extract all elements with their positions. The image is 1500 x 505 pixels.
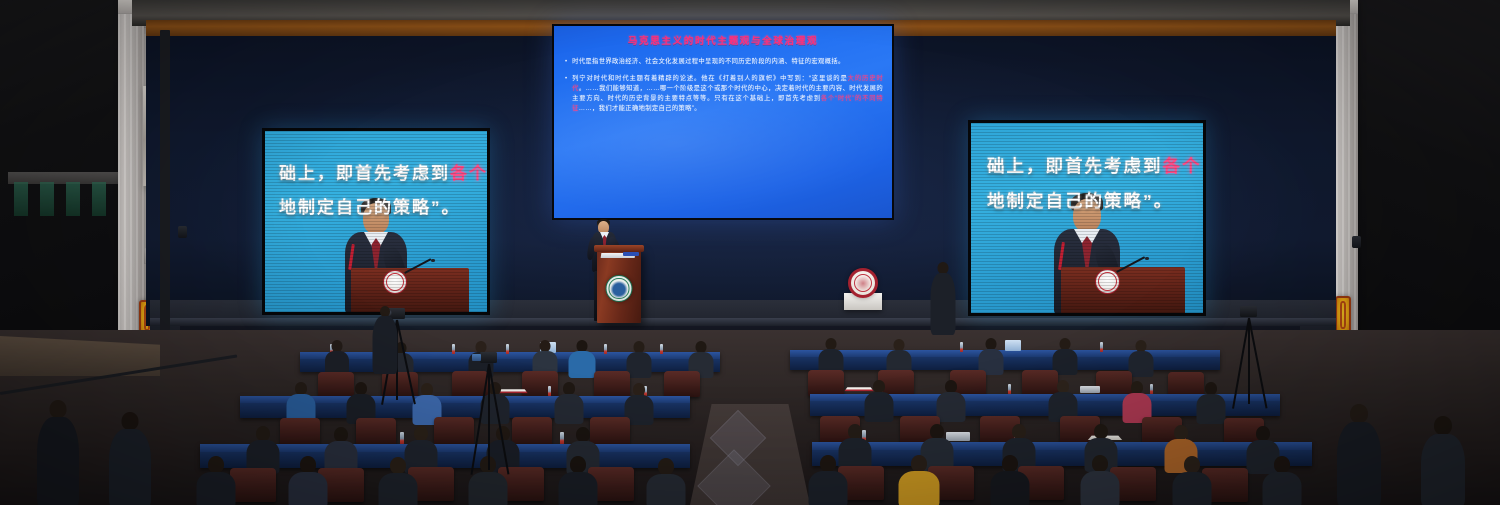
spotlight-1 — [178, 226, 187, 238]
person-head — [1094, 424, 1108, 439]
person-head — [1002, 455, 1018, 472]
person-head — [334, 427, 348, 442]
water-bottle — [660, 344, 663, 354]
camera-tripod-right — [1232, 300, 1272, 412]
lighting-truss — [160, 30, 170, 330]
stage-edge — [150, 318, 1336, 326]
led-left-line-2: 地制定自己的策略”。 — [279, 193, 461, 218]
person-body — [1173, 472, 1212, 505]
person-body — [1337, 422, 1381, 505]
person-body — [937, 392, 966, 422]
person-body — [559, 472, 598, 505]
lecture-hall-scene: 马克思主义的时代主题观与全球治理观 • 时代是指世界政治经济、社会文化发展过程中… — [0, 0, 1500, 505]
audience-person — [288, 456, 328, 505]
water-bottle — [452, 344, 455, 354]
audience-chair — [808, 370, 844, 396]
person-body — [109, 429, 151, 505]
slide-title: 马克思主义的时代主题观与全球治理观 — [563, 36, 883, 48]
audience-person — [818, 338, 844, 374]
led-microphone-head — [1145, 257, 1149, 261]
audience-chair — [280, 418, 320, 446]
main-projection-screen: 马克思主义的时代主题观与全球治理观 • 时代是指世界政治经济、社会文化发展过程中… — [552, 24, 894, 220]
audience-person — [936, 380, 966, 420]
person-head — [1256, 426, 1270, 441]
audience-person — [568, 340, 596, 377]
person-body — [555, 394, 584, 424]
tripod-leg — [1248, 318, 1250, 404]
video-camera — [1240, 306, 1257, 317]
person-head — [1350, 404, 1368, 423]
gallery-window-2 — [40, 182, 54, 216]
person-head — [930, 424, 944, 439]
audience-person — [36, 400, 80, 505]
video-camera — [480, 352, 497, 363]
slide-bullet-2: • 列宁对时代和时代主题有着精辟的论述。他在《打着别人的旗帜》中写到：“这里谈的… — [565, 74, 883, 115]
water-bottle — [548, 386, 551, 396]
podium — [597, 249, 641, 323]
led-right-line-2: 地制定自己的策略”。 — [987, 188, 1173, 213]
audience-person — [864, 380, 894, 420]
person-body — [1129, 351, 1154, 377]
camera-tripod-center — [472, 352, 512, 482]
camera-operator — [372, 306, 398, 374]
audience-person — [346, 382, 376, 422]
audience-person — [324, 427, 358, 473]
audience-chair — [434, 417, 474, 445]
led-screen-left-face: 础上，即首先考虑到各个 地制定自己的策略”。 — [265, 131, 487, 312]
audience-person — [196, 456, 236, 505]
bullet-marker-icon: • — [565, 74, 567, 115]
person-body — [627, 352, 652, 378]
tripod-leg — [488, 364, 490, 470]
person-body — [569, 351, 596, 378]
person-body — [37, 417, 79, 505]
audience-person — [978, 338, 1004, 374]
person-head — [208, 456, 224, 473]
gallery-window-1 — [14, 182, 28, 216]
audience-person — [1122, 381, 1152, 421]
person-head — [256, 426, 270, 441]
led-screen-right: 础上，即首先考虑到各个 地制定自己的策略”。 — [968, 120, 1206, 316]
person-head — [50, 400, 67, 418]
audience-person — [1080, 455, 1120, 505]
laptop — [1080, 386, 1100, 393]
led-screen-right-face: 础上，即首先考虑到各个 地制定自己的策略”。 — [971, 123, 1203, 313]
person-head — [1184, 456, 1200, 473]
audience-person — [246, 426, 280, 472]
person-head — [570, 456, 586, 473]
floor-tile — [697, 449, 771, 505]
audience-person — [1172, 456, 1212, 505]
table-row — [812, 442, 1312, 466]
person-head — [576, 427, 590, 442]
water-bottle — [560, 432, 564, 444]
audience-chair — [356, 418, 396, 446]
water-bottle — [1008, 384, 1011, 394]
audience-person — [108, 412, 152, 505]
audience-person — [1262, 456, 1302, 505]
podium-device — [623, 252, 639, 256]
led-right-line-1: 础上，即首先考虑到各个 — [987, 153, 1202, 178]
person-body — [991, 471, 1030, 505]
person-head — [820, 455, 836, 472]
person-head — [848, 424, 862, 439]
bullet-text: 时代是指世界政治经济、社会文化发展过程中呈现的不同历史阶段的内涵、特征的宏观概括… — [572, 57, 845, 68]
person-head — [414, 426, 428, 441]
ornament-cartouche-right-b — [1335, 296, 1351, 334]
audience-person — [378, 457, 418, 505]
person-head — [1174, 425, 1188, 440]
camera-monitor — [472, 354, 481, 361]
spotlight-2 — [1352, 236, 1361, 248]
person-head — [300, 456, 316, 473]
audience-person — [808, 455, 848, 505]
audience-person — [1052, 338, 1078, 374]
presentation-slide: 马克思主义的时代主题观与全球治理观 • 时代是指世界政治经济、社会文化发展过程中… — [554, 26, 892, 218]
bullet-segment: 时代是指世界政治经济、社会文化发展过程中呈现的不同历史阶段的内涵、特征的宏观概括… — [572, 58, 845, 65]
tripod-leg — [396, 320, 416, 405]
led-podium-seal — [383, 270, 407, 294]
person-body — [373, 316, 398, 374]
bullet-marker-icon: • — [565, 57, 567, 68]
audience-person — [1048, 380, 1078, 420]
audience-person — [1128, 340, 1154, 376]
table-row — [790, 350, 1220, 370]
person-head — [658, 458, 674, 475]
led-screen-left: 础上，即首先考虑到各个 地制定自己的策略”。 — [262, 128, 490, 315]
person-head — [1274, 456, 1290, 473]
person-head — [122, 412, 139, 430]
person-body — [1263, 472, 1302, 505]
award-emblem-icon — [848, 268, 878, 298]
camera-tripod-left — [378, 300, 418, 410]
audience-chair — [230, 468, 276, 502]
person-head — [1012, 424, 1026, 439]
person-body — [809, 471, 848, 505]
audience-person — [990, 455, 1030, 505]
person-body — [899, 471, 940, 505]
bullet-text: 列宁对时代和时代主题有着精辟的论述。他在《打着别人的旗帜》中写到：“这里谈的是大… — [572, 74, 883, 115]
bullet-segment: ……，我们才能正确地制定自己的策略”。 — [579, 105, 701, 112]
person-body — [197, 472, 236, 505]
gallery-window-4 — [92, 182, 106, 216]
audience-person — [898, 455, 940, 505]
tripod-leg — [488, 364, 509, 475]
laptop-screen — [1005, 340, 1021, 351]
person-body — [865, 392, 894, 422]
person-body — [1197, 394, 1226, 424]
bullet-segment: 列宁对时代和时代主题有着精辟的论述。他在《打着别人的旗帜》中写到：“这里谈的是 — [572, 75, 848, 82]
person-body — [289, 472, 328, 505]
podium-top-surface — [594, 245, 644, 252]
tripod-leg — [1248, 318, 1268, 409]
person-body — [1081, 471, 1120, 505]
audience-person — [558, 456, 598, 505]
water-bottle — [604, 344, 607, 354]
audience-person — [324, 340, 350, 376]
person-body — [1421, 434, 1465, 505]
audience-person — [286, 382, 316, 422]
water-bottle — [960, 342, 963, 352]
award-pedestal — [840, 268, 886, 310]
person-head — [1092, 455, 1108, 472]
pillar-left-outer — [118, 0, 144, 340]
audience-person — [1196, 382, 1226, 422]
person-body — [379, 473, 418, 505]
audience-person — [554, 382, 584, 422]
person-body — [931, 273, 956, 335]
led-podium — [1061, 267, 1185, 313]
university-seal-icon — [606, 275, 633, 302]
person-body — [647, 474, 686, 505]
slide-bullet-1: • 时代是指世界政治经济、社会文化发展过程中呈现的不同历史阶段的内涵、特征的宏观… — [565, 57, 883, 68]
right-gallery-shadow — [1350, 0, 1500, 350]
audience-person — [626, 341, 652, 377]
water-bottle — [1100, 342, 1103, 352]
person-head — [390, 457, 406, 474]
person-head — [911, 455, 927, 472]
audience-person — [646, 458, 686, 505]
audience-chair — [664, 371, 700, 397]
audience-person — [1420, 416, 1466, 505]
audience-person — [1336, 404, 1382, 505]
staff-person — [930, 262, 956, 334]
person-head — [1434, 416, 1452, 435]
gallery-window-3 — [66, 182, 80, 216]
led-left-line-1: 础上，即首先考虑到各个 — [279, 159, 487, 184]
led-microphone-head — [431, 259, 435, 263]
